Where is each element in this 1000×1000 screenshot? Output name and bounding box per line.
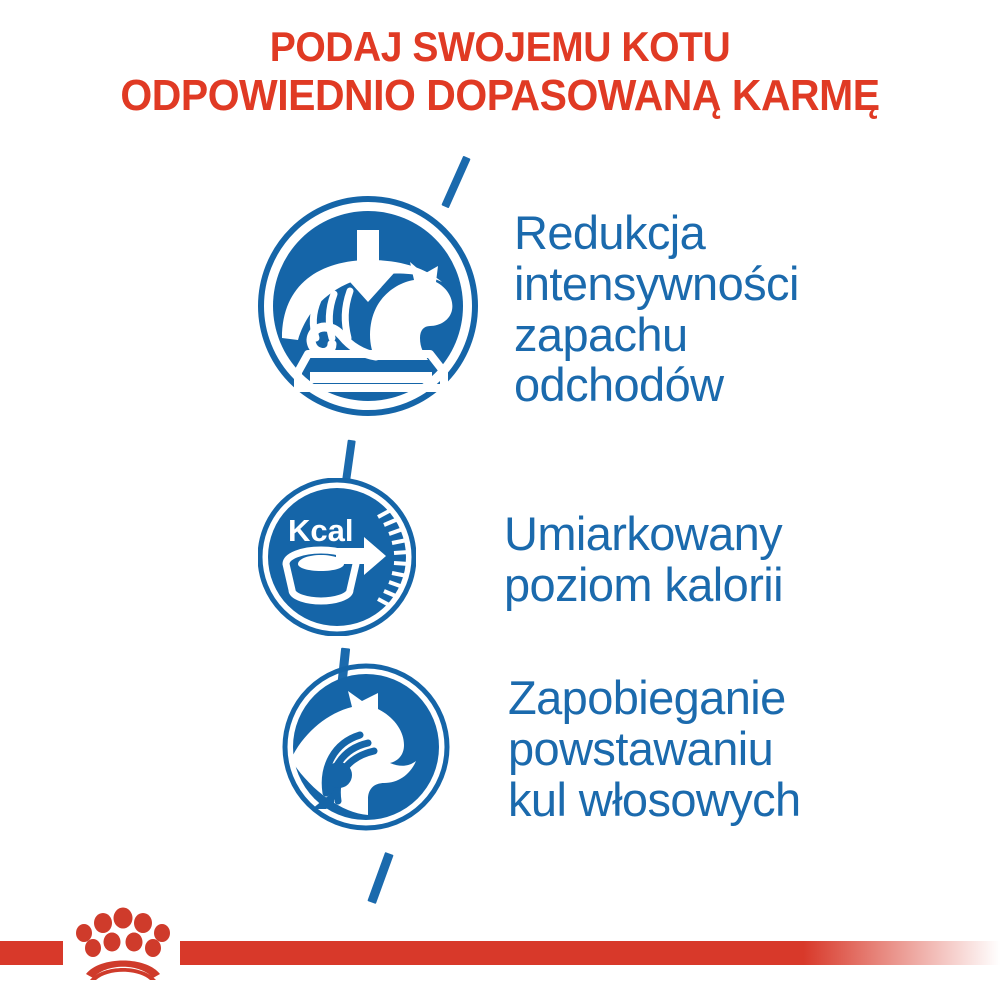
page-title: PODAJ SWOJEMU KOTU ODPOWIEDNIO DOPASOWAN… (35, 22, 965, 120)
feature-row-odor: Redukcja intensywności zapachu odchodów (258, 196, 799, 421)
litter-box-odor-reduction-icon (258, 196, 478, 416)
feature-row-calories: Kcal (258, 478, 783, 641)
feature-row-hairball: Zapobieganie powstawaniu kul włosowych (282, 663, 801, 836)
feature-3-text: Zapobieganie powstawaniu kul włosowych (508, 673, 801, 825)
moderate-calories-icon: Kcal (258, 478, 416, 636)
footer-bar-left (0, 941, 63, 965)
connector-dash-bottom (367, 852, 393, 904)
feature-2-icon-wrap: Kcal (258, 478, 416, 641)
footer-bar-right (180, 941, 1000, 965)
feature-3-icon-wrap (282, 663, 450, 836)
page-title-line-1: PODAJ SWOJEMU KOTU (35, 22, 965, 71)
feature-1-text: Redukcja intensywności zapachu odchodów (514, 208, 799, 411)
page-title-line-2: ODPOWIEDNIO DOPASOWANĄ KARMĘ (35, 71, 965, 120)
hairball-prevention-icon (282, 663, 450, 831)
feature-2-text: Umiarkowany poziom kalorii (504, 509, 783, 611)
connector-dash-one-two (342, 440, 355, 481)
kcal-label: Kcal (288, 513, 353, 548)
poster-canvas: PODAJ SWOJEMU KOTU ODPOWIEDNIO DOPASOWAN… (0, 0, 1000, 1000)
royal-canin-crown-logo (64, 902, 182, 980)
feature-1-icon-wrap (258, 196, 478, 421)
